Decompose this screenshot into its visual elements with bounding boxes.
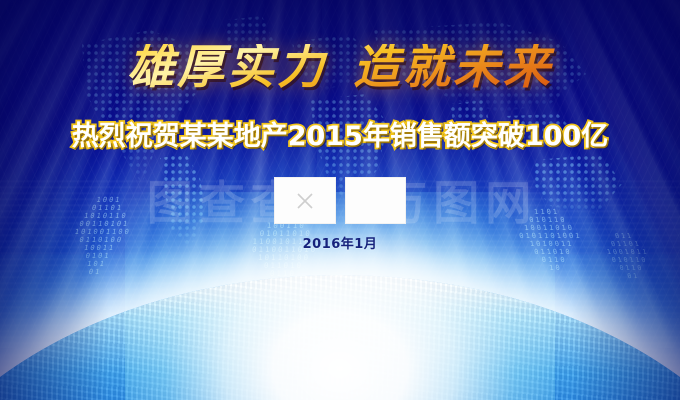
photo-placeholder-1[interactable] xyxy=(274,177,336,224)
poster-canvas: 1001 01101 1010110 00110101 101001100 01… xyxy=(0,0,680,400)
poster-content: 雄厚实力造就未来 热烈祝贺某某地产2015年销售额突破100亿 2016年1月 xyxy=(0,0,680,400)
headline-part-right: 造就未来 xyxy=(353,40,553,95)
subheadline: 热烈祝贺某某地产2015年销售额突破100亿 xyxy=(0,122,680,152)
photo-placeholder-2[interactable] xyxy=(345,177,406,224)
date-label: 2016年1月 xyxy=(0,233,680,252)
broken-image-x-icon xyxy=(295,191,315,211)
photo-placeholder-row xyxy=(0,177,680,224)
headline-part-left: 雄厚实力 xyxy=(127,40,327,95)
headline: 雄厚实力造就未来 xyxy=(0,44,680,91)
